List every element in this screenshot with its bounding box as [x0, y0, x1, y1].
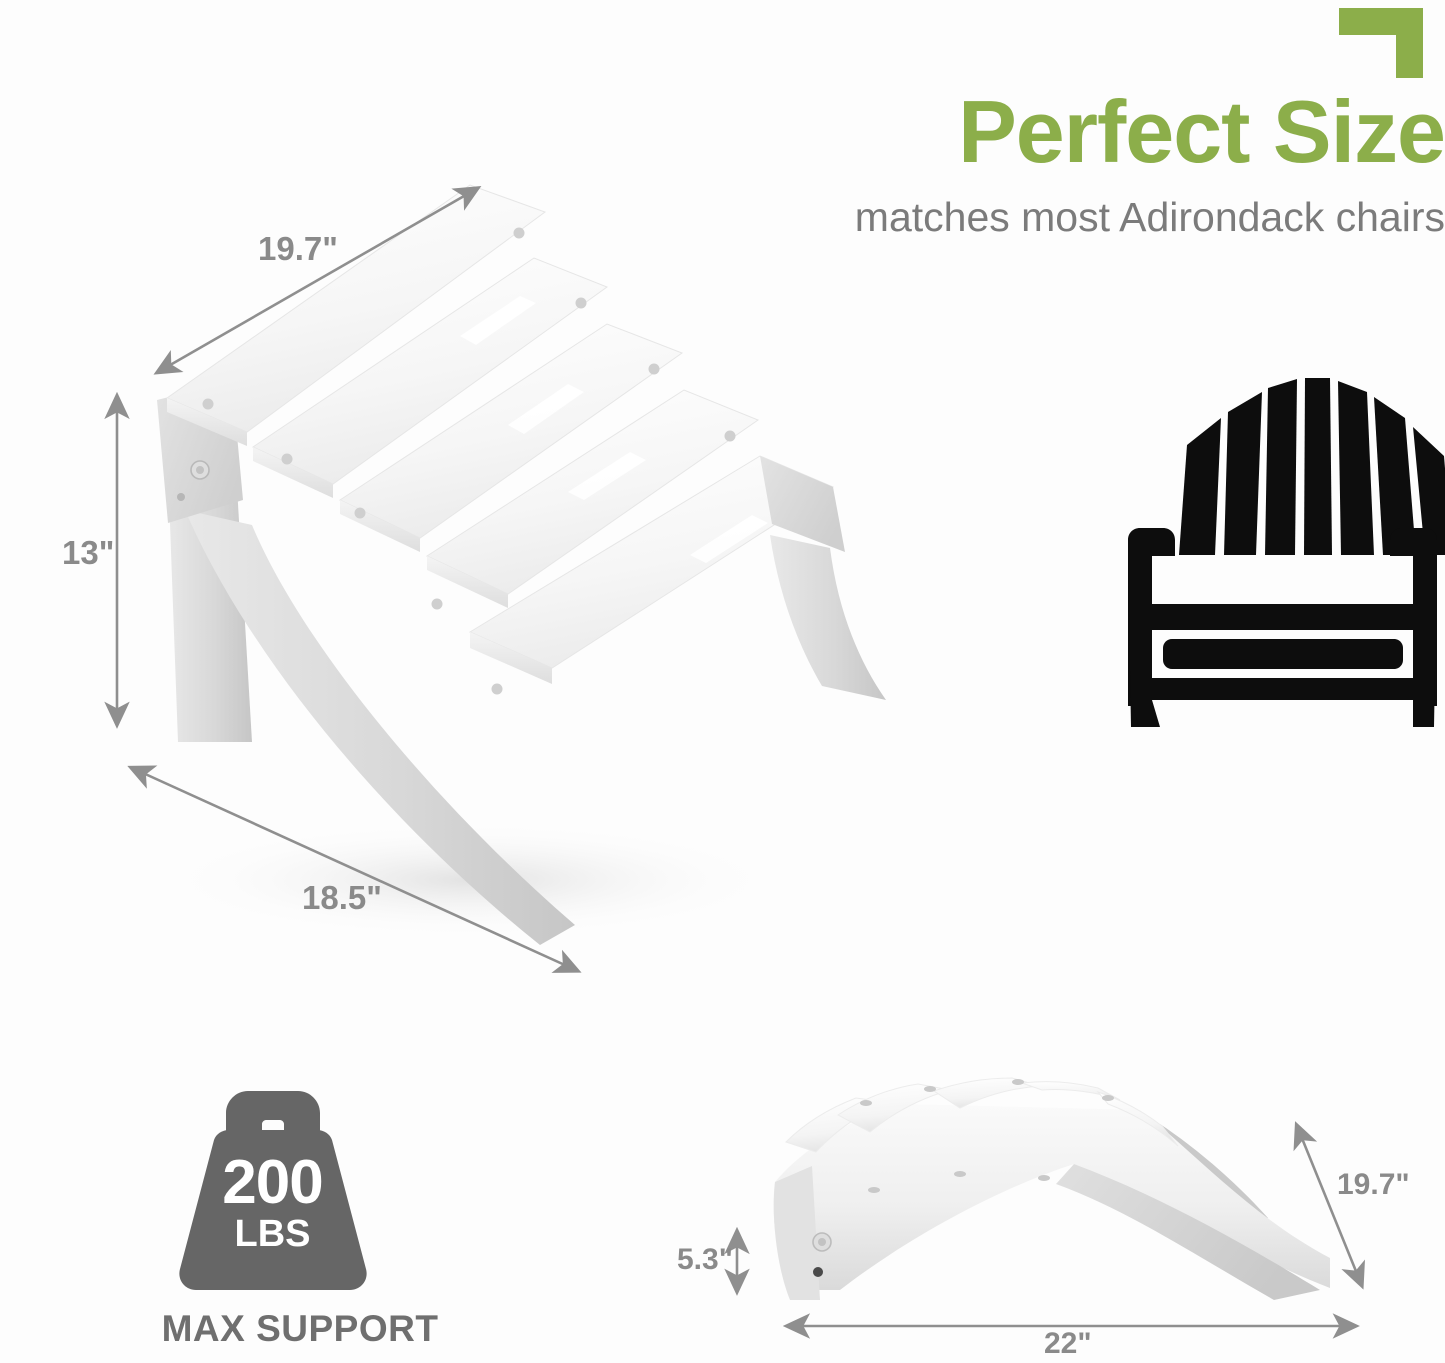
dimension-label-folded-depth: 19.7" — [1337, 1168, 1410, 1202]
dimension-label-folded-height: 5.3" — [677, 1243, 733, 1277]
folded-product-illustration — [0, 0, 1445, 1363]
dimension-label-folded-length: 22" — [1044, 1327, 1092, 1361]
